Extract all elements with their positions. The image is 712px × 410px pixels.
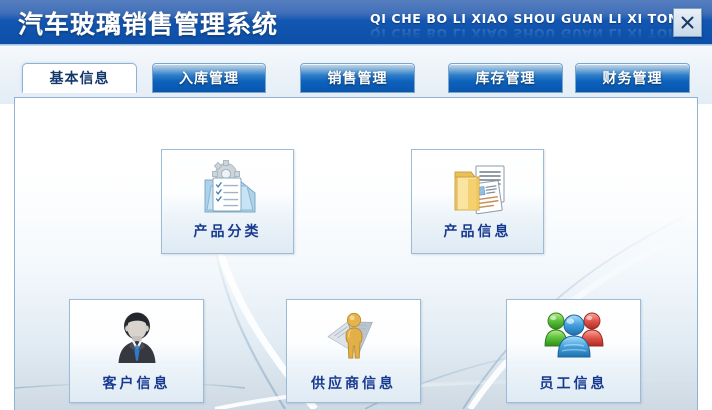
tab-label: 入库管理: [179, 68, 239, 88]
content-panel: 产品分类: [14, 97, 698, 410]
menu-item-label: 员工信息: [507, 373, 640, 393]
three-users-icon: [507, 306, 640, 368]
tab-sales-management[interactable]: 销售管理: [300, 63, 415, 93]
title-pinyin: QI CHE BO LI XIAO SHOU GUAN LI XI TONG: [370, 11, 690, 26]
person-book-icon: [287, 306, 420, 368]
menu-item-label: 客户信息: [70, 373, 203, 393]
menu-item-label: 产品信息: [412, 221, 543, 241]
menu-item-employee-info[interactable]: 员工信息: [506, 299, 641, 403]
close-button[interactable]: [673, 8, 702, 37]
tab-inbound-management[interactable]: 入库管理: [152, 63, 266, 93]
menu-item-product-info[interactable]: 产品信息: [411, 149, 544, 254]
tab-basic-info[interactable]: 基本信息: [22, 63, 137, 93]
menu-item-label: 产品分类: [162, 221, 293, 241]
title-pinyin-reflection: QI CHE BO LI XIAO SHOU GUAN LI XI TONG: [370, 26, 690, 41]
menu-item-supplier-info[interactable]: 供应商信息: [286, 299, 421, 403]
folder-checklist-gear-icon: [162, 158, 293, 222]
page-title: 汽车玻璃销售管理系统: [18, 5, 278, 41]
businessman-avatar-icon: [70, 306, 203, 368]
tab-label: 财务管理: [603, 68, 663, 88]
tab-bar-top-edge: [0, 44, 712, 46]
menu-item-customer-info[interactable]: 客户信息: [69, 299, 204, 403]
tab-bar: 基本信息 入库管理 销售管理 库存管理 财务管理: [0, 44, 712, 104]
yellow-folder-documents-icon: [412, 158, 543, 222]
tab-inventory-management[interactable]: 库存管理: [448, 63, 563, 93]
title-bar: 汽车玻璃销售管理系统 QI CHE BO LI XIAO SHOU GUAN L…: [0, 0, 712, 44]
tab-label: 销售管理: [328, 68, 388, 88]
close-icon: [680, 15, 695, 30]
tab-label: 基本信息: [50, 68, 110, 88]
menu-item-product-category[interactable]: 产品分类: [161, 149, 294, 254]
menu-item-label: 供应商信息: [287, 373, 420, 393]
tab-finance-management[interactable]: 财务管理: [575, 63, 690, 93]
tab-label: 库存管理: [476, 68, 536, 88]
application-window: 汽车玻璃销售管理系统 QI CHE BO LI XIAO SHOU GUAN L…: [0, 0, 712, 410]
